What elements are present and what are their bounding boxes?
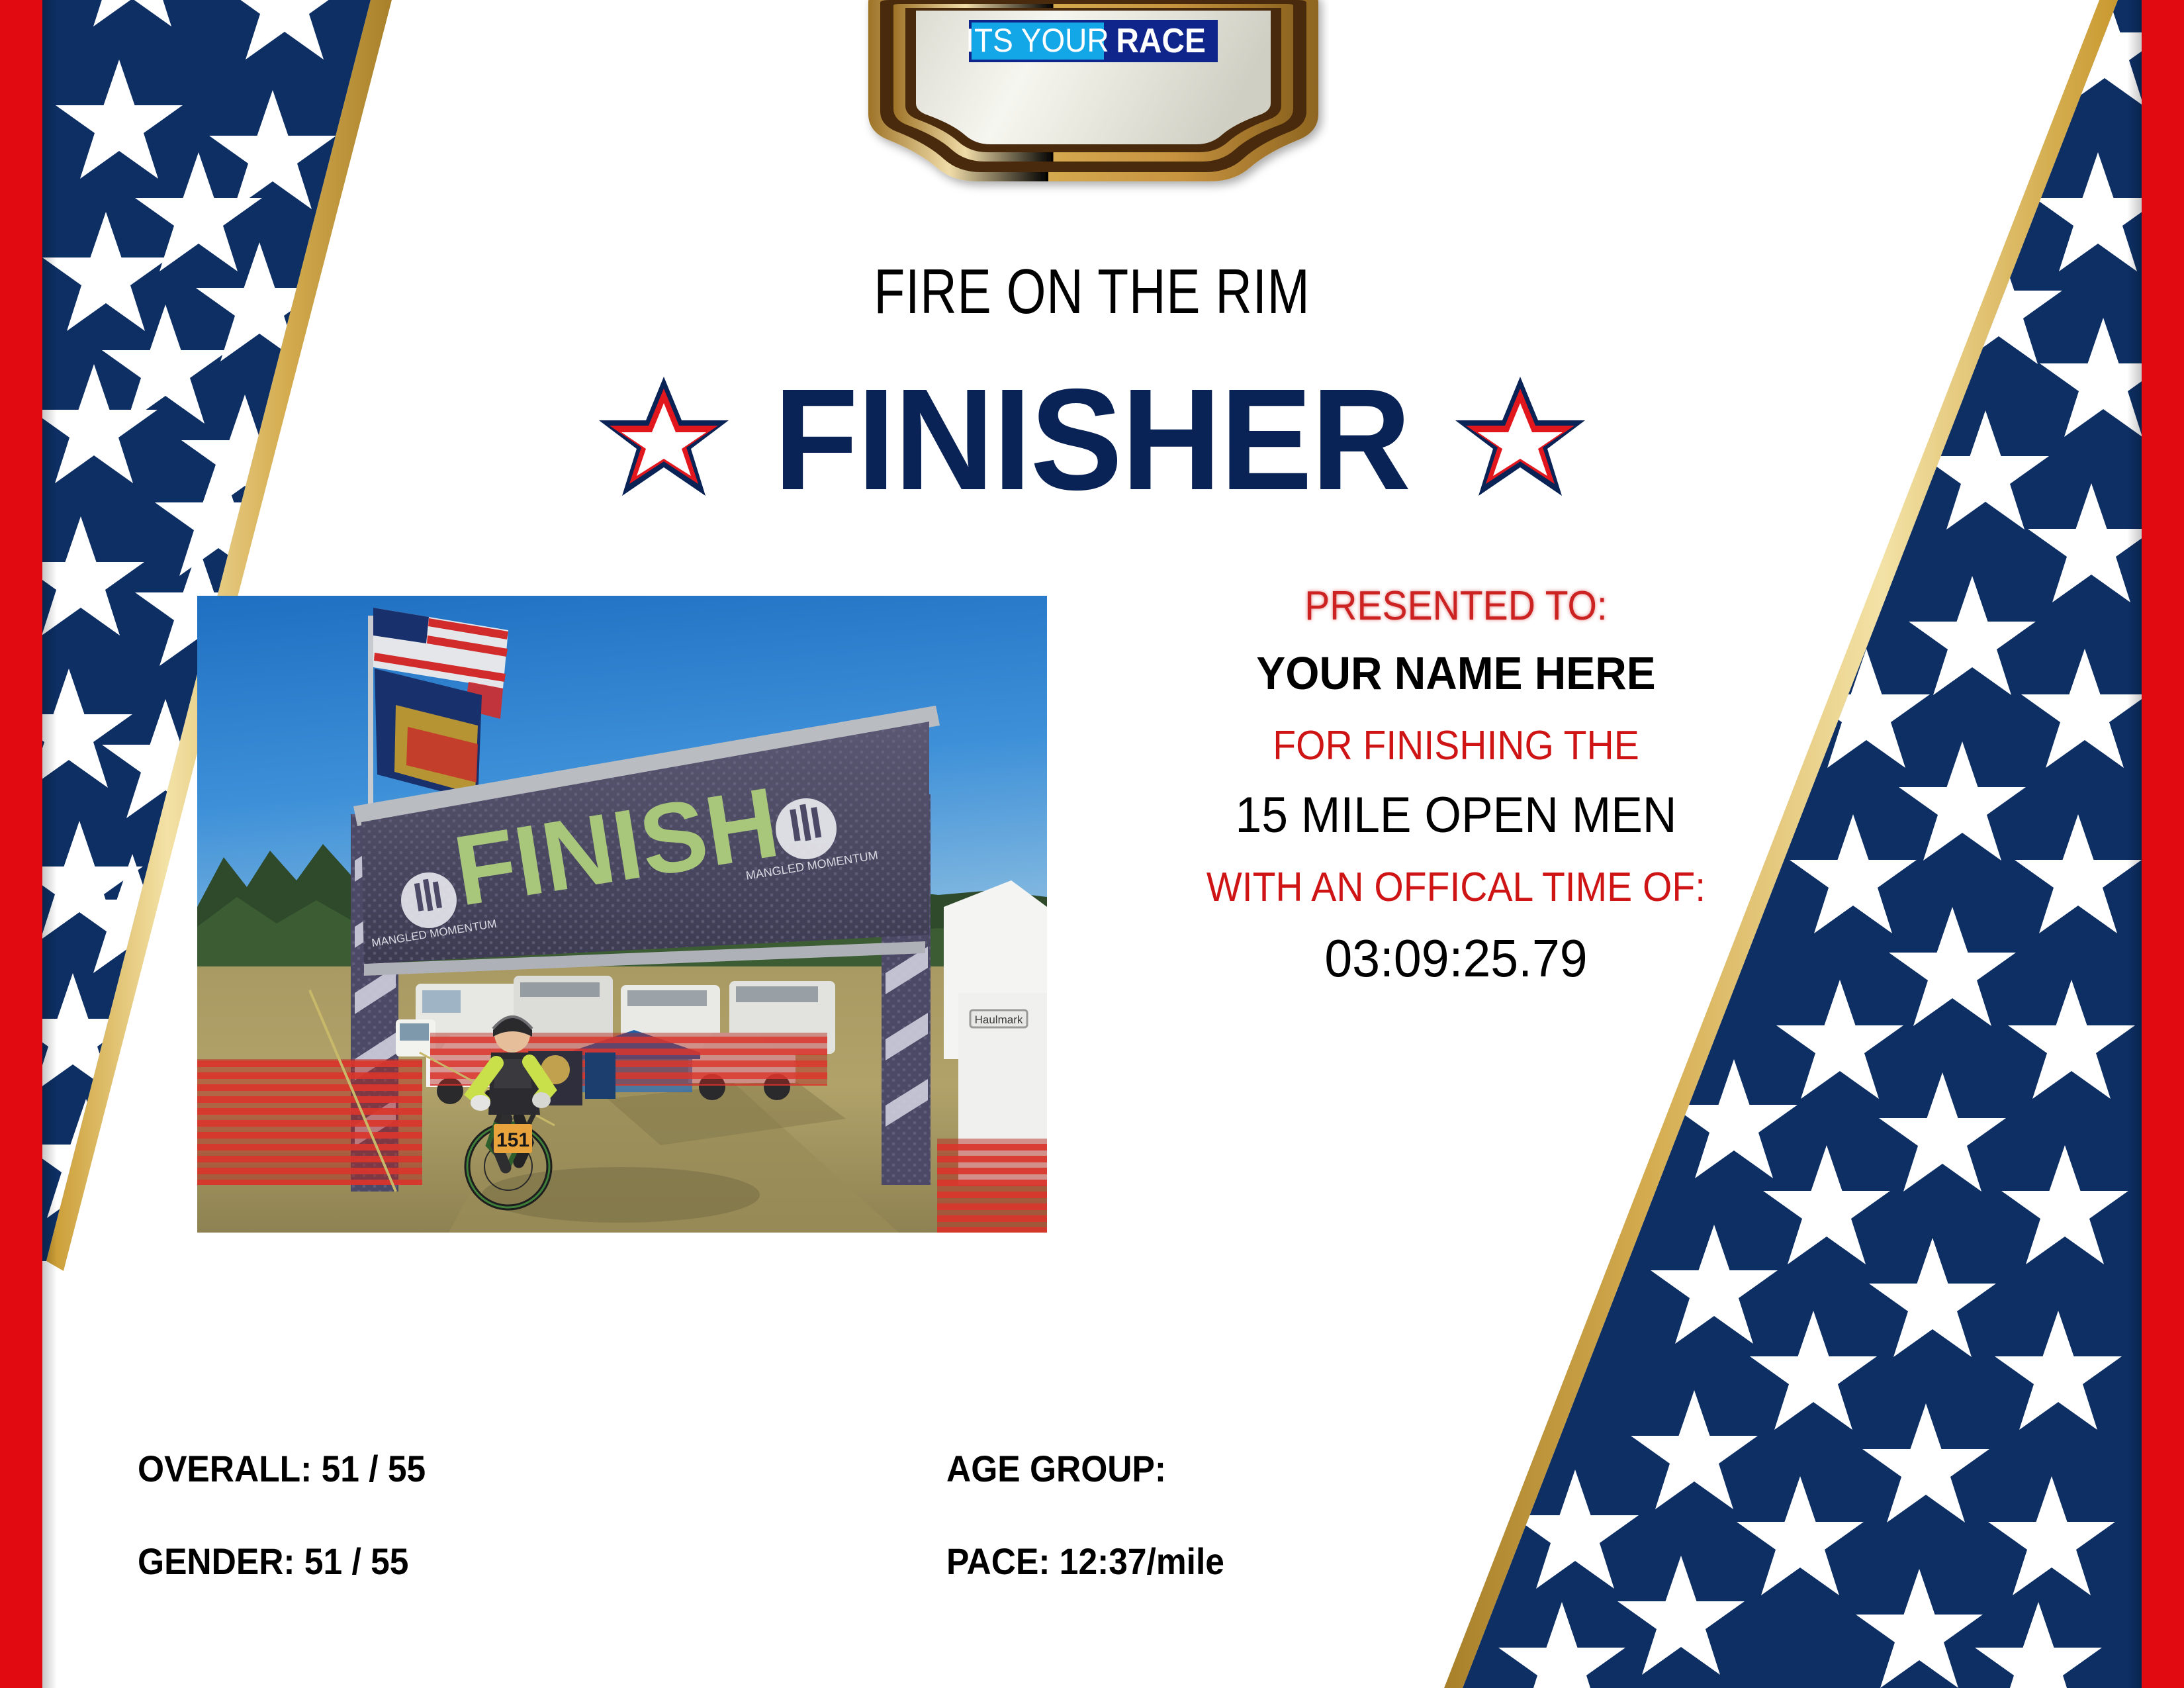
results-stats: OVERALL: 51 / 55 GENDER: 51 / 55 AGE GRO… xyxy=(0,1436,2184,1582)
race-name: FIRE ON THE RIM xyxy=(218,256,1966,328)
for-finishing-label: FOR FINISHING THE xyxy=(1115,722,1797,769)
finish-time: 03:09:25.79 xyxy=(1108,928,1805,989)
right-red-stripe xyxy=(2142,0,2184,1688)
award-title: FINISHER xyxy=(774,368,1410,512)
photo-trailer-label: Haulmark xyxy=(975,1013,1023,1026)
right-edge-shadow xyxy=(2127,0,2142,1688)
official-time-label: WITH AN OFFICAL TIME OF: xyxy=(1115,864,1797,911)
event-name: 15 MILE OPEN MEN xyxy=(1108,786,1805,844)
certificate-page: ITS YOUR RACE FIRE ON THE RIM FINISHER xyxy=(0,0,2184,1688)
stat-pace: PACE: 12:37/mile xyxy=(946,1540,1224,1583)
left-edge-shadow xyxy=(42,0,57,1688)
its-your-race-shield-logo: ITS YOUR RACE xyxy=(858,0,1329,209)
recipient-name: YOUR NAME HERE xyxy=(1108,647,1805,700)
award-title-row: FINISHER xyxy=(0,357,2184,523)
presented-to-label: PRESENTED TO: xyxy=(1115,583,1797,630)
svg-text:RACE: RACE xyxy=(1116,21,1206,60)
stat-gender: GENDER: 51 / 55 xyxy=(138,1540,408,1583)
award-text-block: PRESENTED TO: YOUR NAME HERE FOR FINISHI… xyxy=(1085,583,1827,989)
photo-bib-number: 151 xyxy=(496,1129,529,1151)
brand-wordmark: ITS YOUR RACE xyxy=(966,20,1218,62)
left-red-stripe xyxy=(0,0,42,1688)
svg-text:ITS YOUR: ITS YOUR xyxy=(966,23,1109,59)
finish-line-photo: FINISH MANGLED MOMENTUM MANGLED MOMENTUM xyxy=(197,596,1047,1233)
stat-age-group: AGE GROUP: xyxy=(946,1447,1166,1490)
star-right-icon xyxy=(1454,374,1586,506)
star-left-icon xyxy=(598,374,730,506)
stat-overall: OVERALL: 51 / 55 xyxy=(138,1447,426,1490)
